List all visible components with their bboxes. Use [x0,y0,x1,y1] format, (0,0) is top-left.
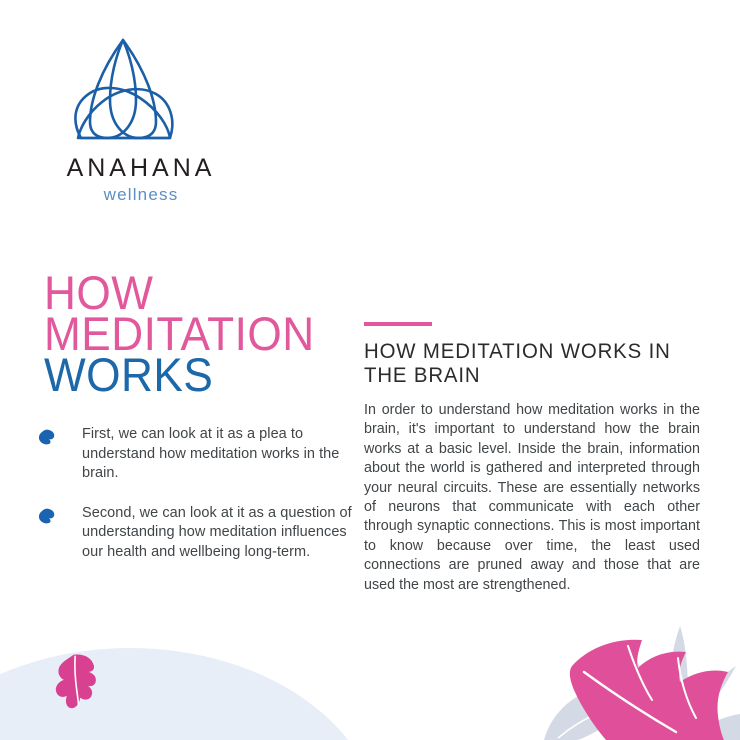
pale-blue-blob-decor [0,648,380,740]
list-item-text: First, we can look at it as a plea to un… [82,425,368,484]
section-heading: HOW MEDITATION WORKS IN THE BRAIN [364,340,690,388]
list-item-text: Second, we can look at it as a question … [82,504,368,563]
article-body: In order to understand how meditation wo… [364,401,700,595]
page-title: HOW MEDITATION WORKS [44,272,315,395]
list-item: Second, we can look at it as a question … [38,504,368,563]
triquetra-logo-mark [60,34,186,146]
pink-leaf-decor [52,650,108,712]
section-rule [364,322,432,326]
brand-logo: ANAHANA wellness [46,34,266,205]
key-points-list: First, we can look at it as a plea to un… [38,425,368,582]
brand-name: ANAHANA [46,154,236,183]
leaf-bullet-icon [38,508,56,524]
list-item: First, we can look at it as a plea to un… [38,425,368,484]
leaf-bullet-icon [38,429,56,445]
article-column: HOW MEDITATION WORKS IN THE BRAIN In ord… [364,322,700,595]
gray-leaf-decor [540,650,680,740]
brand-tagline: wellness [46,185,236,205]
page-title-line-3: WORKS [44,354,315,395]
poster-canvas: ANAHANA wellness HOW MEDITATION WORKS Fi… [0,0,740,740]
